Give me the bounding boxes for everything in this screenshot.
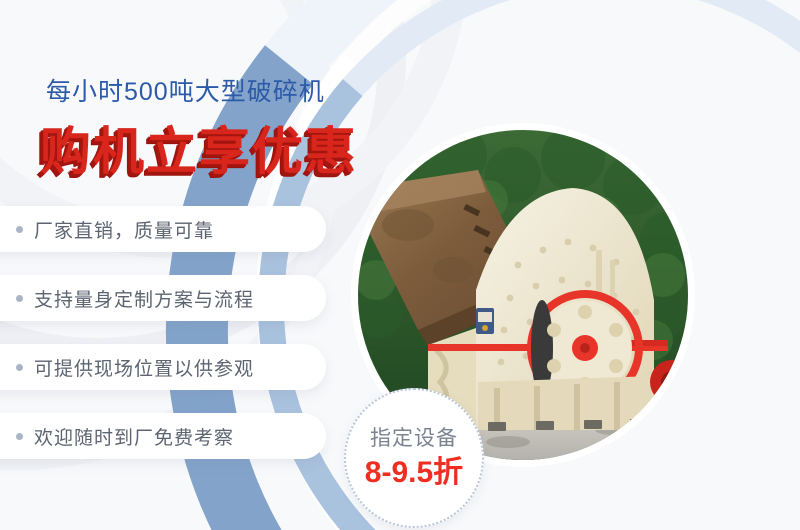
feature-pill-label: 支持量身定制方案与流程: [34, 285, 254, 312]
feature-pill-label: 厂家直销，质量可靠: [34, 216, 214, 243]
banner-subtitle: 每小时500吨大型破碎机: [46, 72, 325, 108]
banner-headline: 购机立享优惠: [40, 110, 358, 184]
promo-banner: 每小时500吨大型破碎机 购机立享优惠 厂家直销，质量可靠 支持量身定制方案与流…: [0, 0, 800, 530]
discount-badge-label: 指定设备: [370, 428, 458, 449]
feature-pill[interactable]: 欢迎随时到厂免费考察: [0, 413, 326, 459]
feature-pill[interactable]: 可提供现场位置以供参观: [0, 344, 326, 390]
feature-pill[interactable]: 厂家直销，质量可靠: [0, 206, 326, 252]
bullet-dot-icon: [16, 226, 23, 233]
bullet-dot-icon: [16, 295, 23, 302]
bullet-dot-icon: [16, 364, 23, 371]
discount-badge-value: 8-9.5折: [365, 458, 463, 488]
feature-pill-label: 欢迎随时到厂免费考察: [34, 423, 234, 450]
discount-badge[interactable]: 指定设备 8-9.5折: [344, 388, 484, 528]
bullet-dot-icon: [16, 433, 23, 440]
feature-list: 厂家直销，质量可靠 支持量身定制方案与流程 可提供现场位置以供参观 欢迎随时到厂…: [0, 206, 326, 482]
feature-pill[interactable]: 支持量身定制方案与流程: [0, 275, 326, 321]
feature-pill-label: 可提供现场位置以供参观: [34, 354, 254, 381]
